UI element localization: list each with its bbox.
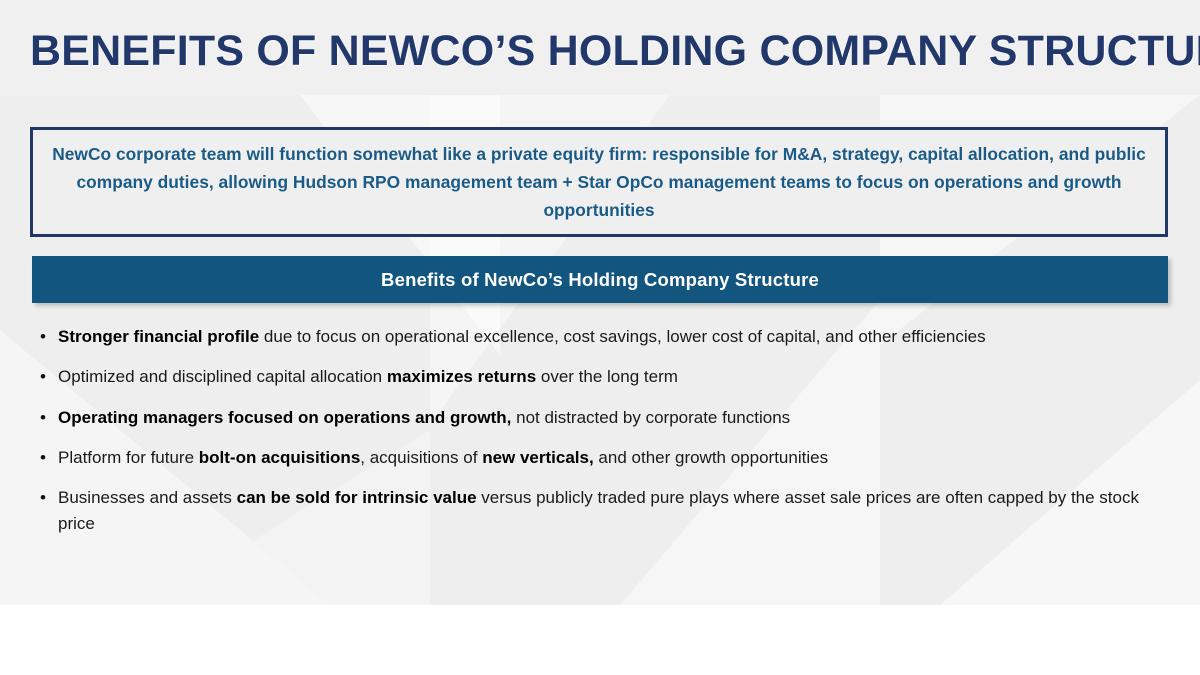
section-header-bar: Benefits of NewCo’s Holding Company Stru… bbox=[32, 256, 1168, 303]
bullet-text: Platform for future bolt-on acquisitions… bbox=[58, 445, 1176, 471]
bullet-marker-icon: • bbox=[36, 445, 58, 471]
bullet-text: Operating managers focused on operations… bbox=[58, 405, 1176, 431]
bullet-marker-icon: • bbox=[36, 405, 58, 431]
bullet-item-stronger-financial-profile: •Stronger financial profile due to focus… bbox=[36, 324, 1176, 350]
slide-title: BENEFITS OF NEWCO’S HOLDING COMPANY STRU… bbox=[30, 28, 1180, 75]
callout-box: NewCo corporate team will function somew… bbox=[30, 127, 1168, 237]
bullet-marker-icon: • bbox=[36, 485, 58, 511]
bullet-item-operating-managers-focused: •Operating managers focused on operation… bbox=[36, 405, 1176, 431]
slide-footer: Hudson Global Star Equity Holdings 8 bbox=[0, 605, 1200, 675]
bullet-text: Optimized and disciplined capital alloca… bbox=[58, 364, 1176, 390]
bullet-text: Businesses and assets can be sold for in… bbox=[58, 485, 1176, 537]
bullet-text: Stronger financial profile due to focus … bbox=[58, 324, 1176, 350]
slide: BENEFITS OF NEWCO’S HOLDING COMPANY STRU… bbox=[0, 0, 1200, 675]
bullet-marker-icon: • bbox=[36, 364, 58, 390]
bullet-marker-icon: • bbox=[36, 324, 58, 350]
section-header-label: Benefits of NewCo’s Holding Company Stru… bbox=[381, 269, 819, 291]
callout-text: NewCo corporate team will function somew… bbox=[47, 140, 1151, 225]
bullet-item-businesses-sold-intrinsic-value: •Businesses and assets can be sold for i… bbox=[36, 485, 1176, 537]
bullet-item-platform-bolt-on-acquisitions: •Platform for future bolt-on acquisition… bbox=[36, 445, 1176, 471]
bullet-item-optimized-capital-allocation: •Optimized and disciplined capital alloc… bbox=[36, 364, 1176, 390]
bullet-list: •Stronger financial profile due to focus… bbox=[36, 324, 1176, 551]
